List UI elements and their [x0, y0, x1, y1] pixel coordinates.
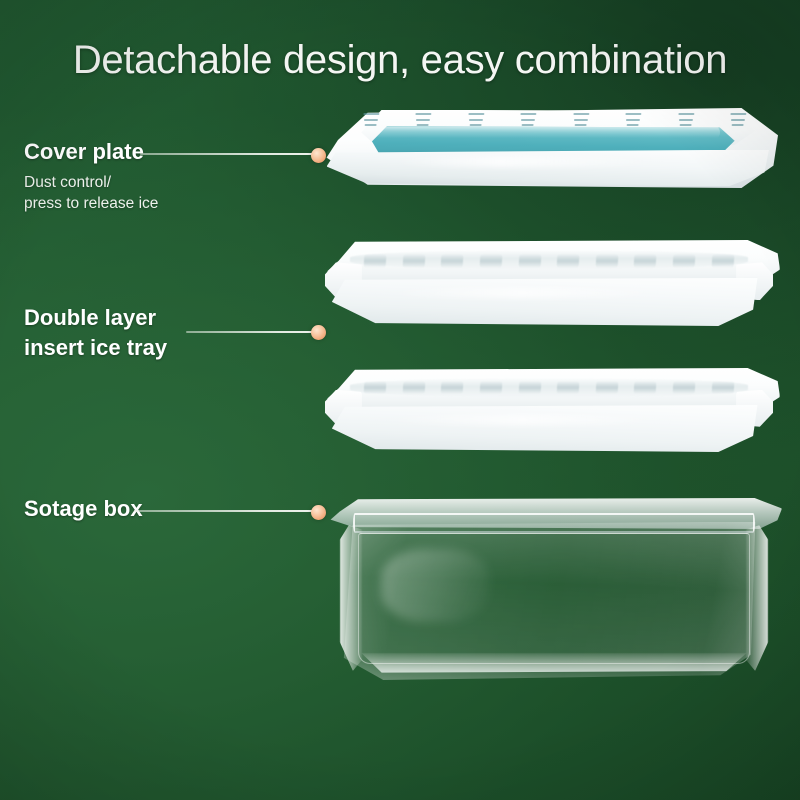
callout-cover-plate: Cover plate Dust control/ press to relea… [24, 137, 158, 214]
infographic-canvas: Detachable design, easy combination [0, 0, 800, 800]
press-dimple-icon [467, 113, 484, 126]
press-dimple-icon [363, 113, 380, 126]
callout-insert-ice-tray: Double layer insert ice tray [24, 303, 167, 363]
callout-storage-box: Sotage box [24, 494, 143, 524]
tray-cell-dividers-lower [364, 381, 734, 394]
leader-line-cover-plate [140, 153, 318, 155]
cover-plate-press-dimples [363, 111, 746, 127]
tray-cell-dividers-upper [364, 254, 734, 268]
callout-cover-plate-subtitle-line1: Dust control/ [24, 172, 158, 193]
product-storage-box [326, 498, 782, 680]
product-insert-ice-tray-lower [318, 368, 780, 452]
storage-box-highlight [381, 549, 490, 622]
product-insert-ice-tray-upper [318, 240, 780, 326]
press-dimple-icon [625, 113, 642, 126]
leader-dot-storage-box [311, 505, 326, 520]
leader-dot-cover-plate [311, 148, 326, 163]
leader-line-insert-ice-tray [186, 331, 318, 333]
callout-insert-ice-tray-title-line1: Double layer [24, 303, 167, 333]
press-dimple-icon [677, 113, 694, 126]
callout-storage-box-title: Sotage box [24, 494, 143, 524]
tray-body-lower [332, 405, 766, 452]
leader-line-storage-box [134, 510, 318, 512]
press-dimple-icon [415, 113, 432, 126]
callout-cover-plate-title: Cover plate [24, 137, 158, 167]
tray-body-upper [332, 278, 766, 326]
product-cover-plate [322, 108, 778, 188]
press-dimple-icon [572, 113, 589, 126]
page-title: Detachable design, easy combination [0, 32, 800, 88]
press-dimple-icon [730, 113, 747, 126]
press-dimple-icon [520, 113, 537, 126]
callout-insert-ice-tray-title-line2: insert ice tray [24, 333, 167, 363]
leader-dot-insert-ice-tray [311, 325, 326, 340]
callout-cover-plate-subtitle-line2: press to release ice [24, 193, 158, 214]
